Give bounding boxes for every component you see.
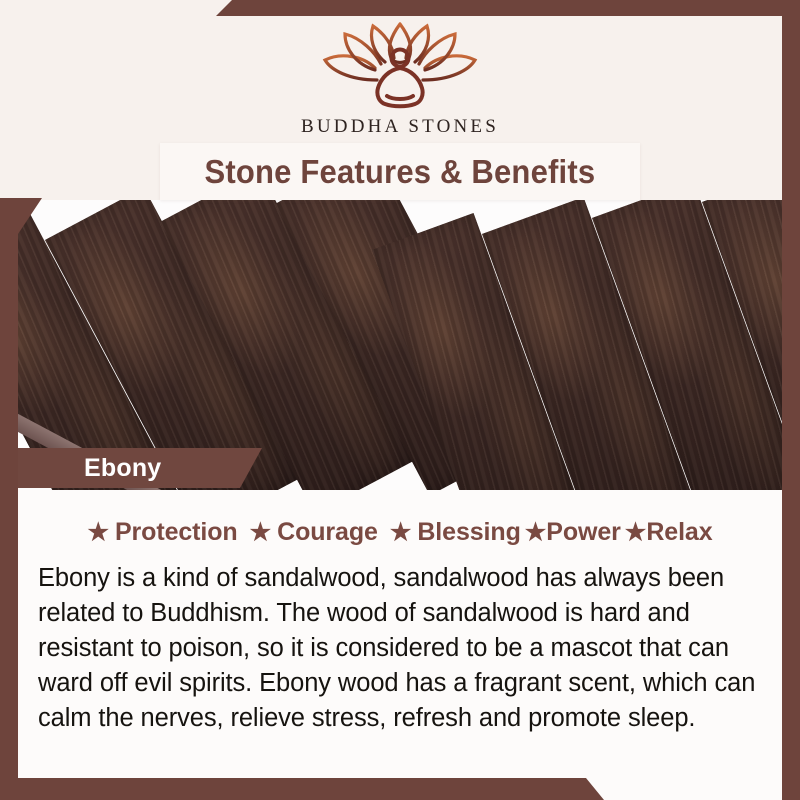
- star-icon: ★: [625, 519, 647, 546]
- benefits-row: ★Protection★Courage★Blessing★Power★Relax: [0, 490, 800, 547]
- product-photo: [0, 198, 800, 490]
- benefit-label: Protection: [115, 518, 238, 546]
- benefit-item: ★Courage: [250, 518, 378, 547]
- benefit-label: Blessing: [417, 518, 520, 546]
- benefit-label: Relax: [646, 518, 712, 546]
- page-title: Stone Features & Benefits: [205, 153, 596, 191]
- product-label-banner: Ebony: [18, 448, 262, 488]
- benefit-item: ★Protection: [87, 518, 237, 547]
- star-icon: ★: [87, 519, 109, 546]
- benefit-item: ★Relax: [625, 518, 713, 547]
- benefit-item: ★Blessing: [390, 518, 521, 547]
- star-icon: ★: [250, 519, 272, 546]
- brand-name: BUDDHA STONES: [0, 116, 800, 138]
- poster-root: BUDDHA STONES Stone Features & Benefits: [0, 0, 800, 800]
- star-icon: ★: [390, 519, 412, 546]
- frame-right-bar: [782, 0, 800, 800]
- brand-logo: BUDDHA STONES: [0, 18, 800, 138]
- star-icon: ★: [525, 519, 547, 546]
- product-label: Ebony: [84, 454, 161, 483]
- description-text: Ebony is a kind of sandalwood, sandalwoo…: [0, 561, 800, 736]
- lotus-meditation-logo-icon: [315, 18, 485, 114]
- title-banner: Stone Features & Benefits: [160, 143, 640, 200]
- benefit-label: Power: [546, 518, 621, 546]
- content-section: ★Protection★Courage★Blessing★Power★Relax…: [0, 490, 800, 800]
- benefit-item: ★Power: [525, 518, 621, 547]
- benefit-label: Courage: [277, 518, 378, 546]
